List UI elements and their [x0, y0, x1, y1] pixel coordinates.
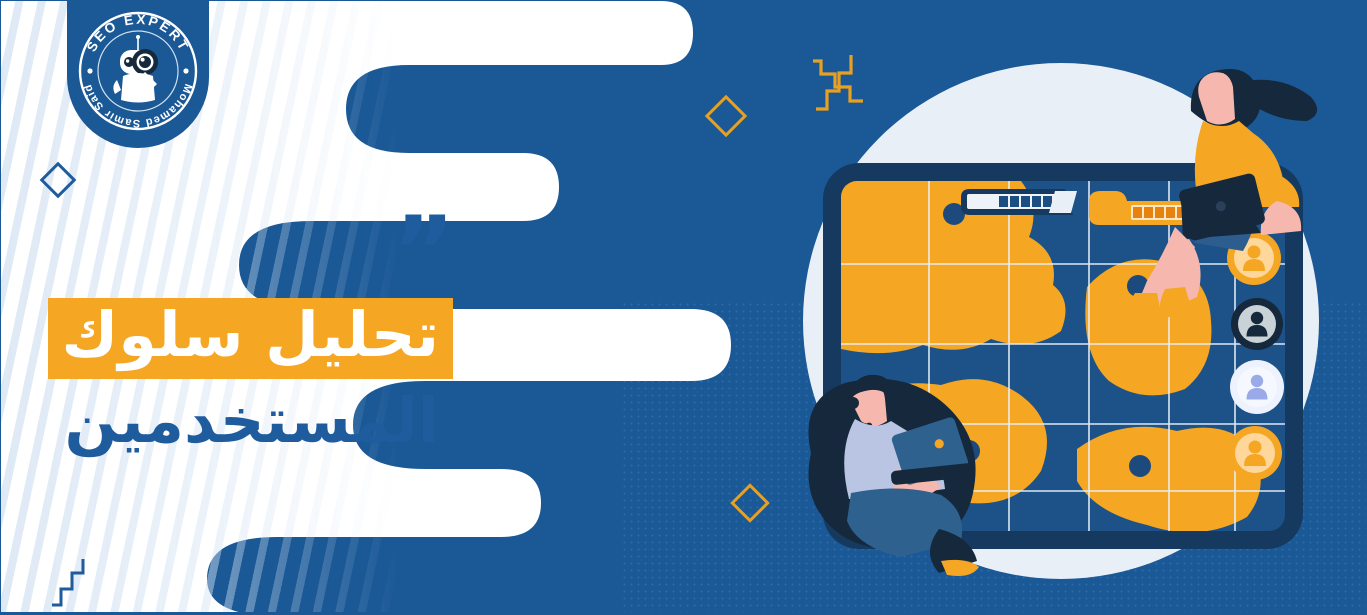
logo-tab: SEO EXPERT Mohamed Samir Said: [67, 0, 209, 148]
quote-mark-icon: ”: [1, 226, 463, 298]
avatar-badge-3: [1230, 360, 1284, 414]
logo-badge: SEO EXPERT Mohamed Samir Said: [75, 8, 201, 134]
headline-block: ” تحليل سلوك المستخدمين: [1, 226, 463, 456]
staircase-zigzag-blue-icon: [49, 549, 95, 611]
bottom-divider: [1, 612, 1367, 614]
page-title-line-2: المستخدمين: [1, 385, 463, 456]
avatar-badge-2: [1231, 298, 1283, 350]
page-title-line-1: تحليل سلوك: [48, 298, 453, 379]
progress-bar-white: [961, 189, 1077, 215]
seo-expert-banner: SEO EXPERT Mohamed Samir Said: [0, 0, 1367, 615]
staircase-zigzag-orange-icon: [813, 47, 863, 117]
analytics-illustration: [791, 1, 1367, 615]
avatar-badge-4: [1228, 426, 1282, 480]
